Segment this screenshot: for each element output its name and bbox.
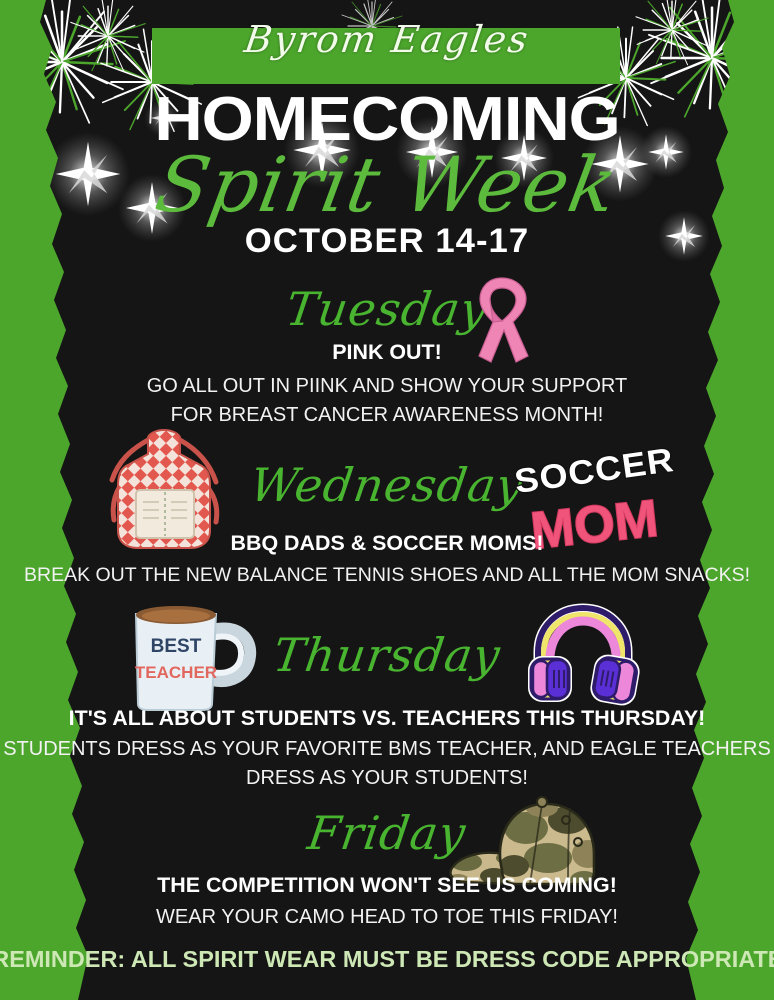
headphones-icon <box>522 598 644 712</box>
day-line-thursday-1: STUDENTS DRESS AS YOUR FAVORITE BMS TEAC… <box>0 738 774 761</box>
reminder-note: REMINDER: ALL SPIRIT WEAR MUST BE DRESS … <box>0 946 774 973</box>
day-line-wednesday-1: BREAK OUT THE NEW BALANCE TENNIS SHOES A… <box>0 564 774 587</box>
day-line-friday-1: WEAR YOUR CAMO HEAD TO TOE THIS FRIDAY! <box>0 906 774 929</box>
spirit-week-flyer: Byrom Eagles HOMECOMING Spirit Week OCTO… <box>0 0 774 1000</box>
day-headline-wednesday: BBQ DADS & SOCCER MOMS! <box>0 532 774 556</box>
page-subtitle: Spirit Week <box>0 140 774 229</box>
day-headline-friday: THE COMPETITION WON'T SEE US COMING! <box>0 874 774 898</box>
banner-label: Byrom Eagles <box>0 18 774 61</box>
day-line-thursday-2: DRESS AS YOUR STUDENTS! <box>0 767 774 790</box>
day-line-tuesday-1: GO ALL OUT IN PIINK AND SHOW YOUR SUPPOR… <box>0 375 774 398</box>
day-headline-tuesday: PINK OUT! <box>0 341 774 365</box>
day-headline-thursday: IT'S ALL ABOUT STUDENTS VS. TEACHERS THI… <box>0 707 774 731</box>
day-label-tuesday: Tuesday <box>0 282 774 336</box>
event-dates: OCTOBER 14-17 <box>0 222 774 261</box>
day-label-thursday: Thursday <box>0 628 774 682</box>
day-label-friday: Friday <box>0 806 774 860</box>
